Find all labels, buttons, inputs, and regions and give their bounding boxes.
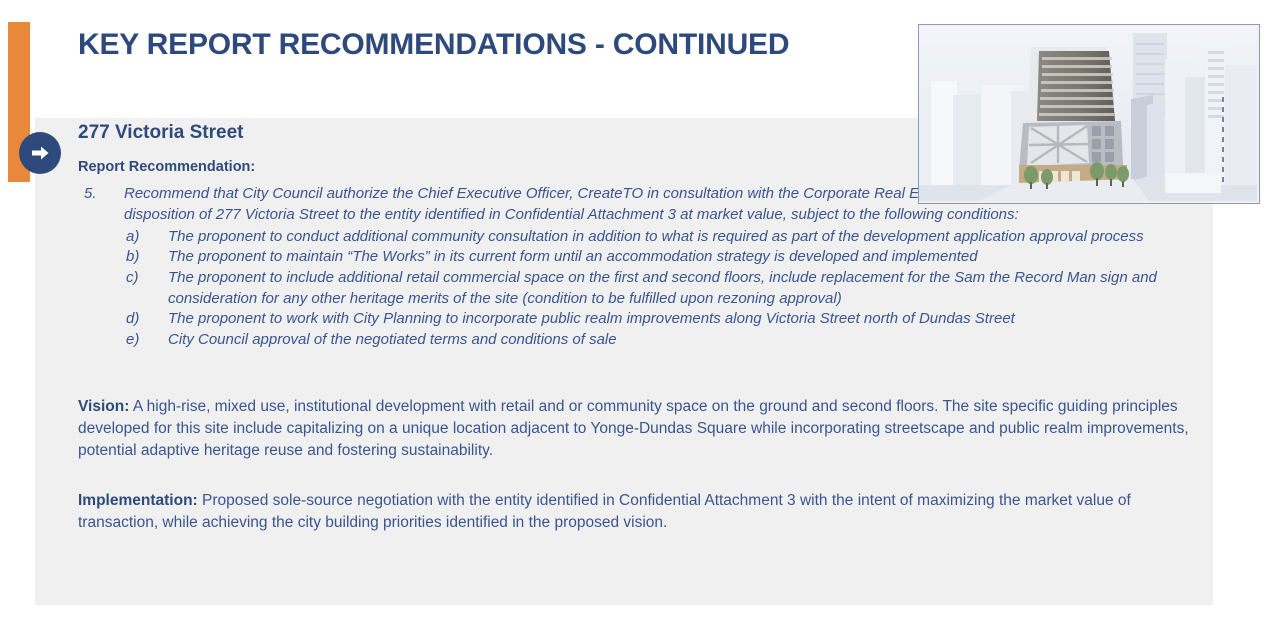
list-item: d) The proponent to work with City Plann… <box>126 309 1193 330</box>
condition-letter: b) <box>126 247 168 268</box>
building-rendering-image <box>918 24 1260 204</box>
recommendation-number: 5. <box>78 184 124 225</box>
condition-letter: a) <box>126 227 168 248</box>
vision-paragraph: Vision: A high-rise, mixed use, institut… <box>78 396 1193 462</box>
condition-letter: c) <box>126 268 168 309</box>
condition-letter: e) <box>126 330 168 351</box>
vision-text: A high-rise, mixed use, institutional de… <box>78 398 1189 459</box>
list-item: b) The proponent to maintain “The Works”… <box>126 247 1193 268</box>
vision-label: Vision: <box>78 398 129 415</box>
list-item: c) The proponent to include additional r… <box>126 268 1193 309</box>
list-item: a) The proponent to conduct additional c… <box>126 227 1193 248</box>
condition-text: The proponent to work with City Planning… <box>168 309 1193 330</box>
arrow-right-circle-icon <box>19 132 61 174</box>
condition-text: The proponent to include additional reta… <box>168 268 1193 309</box>
page-title: KEY REPORT RECOMMENDATIONS - CONTINUED <box>78 28 789 62</box>
implementation-paragraph: Implementation: Proposed sole-source neg… <box>78 490 1193 534</box>
condition-text: City Council approval of the negotiated … <box>168 330 1193 351</box>
implementation-text: Proposed sole-source negotiation with th… <box>78 492 1131 531</box>
condition-text: The proponent to maintain “The Works” in… <box>168 247 1193 268</box>
condition-letter: d) <box>126 309 168 330</box>
conditions-list: a) The proponent to conduct additional c… <box>78 227 1193 351</box>
condition-text: The proponent to conduct additional comm… <box>168 227 1193 248</box>
implementation-label: Implementation: <box>78 492 198 509</box>
list-item: e) City Council approval of the negotiat… <box>126 330 1193 351</box>
